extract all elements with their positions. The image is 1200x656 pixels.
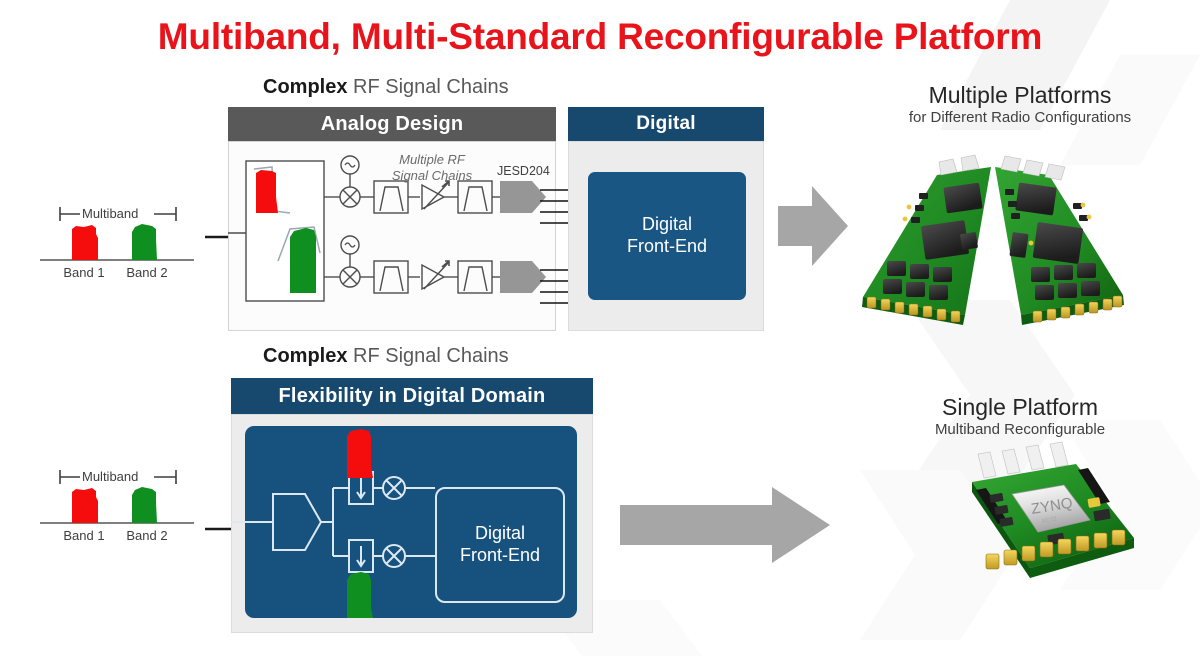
digital-front-end-box-bottom: Digital Front-End [435, 487, 565, 603]
multiple-platforms-subheading: for Different Radio Configurations [810, 108, 1200, 128]
dfe-bottom-line1: Digital [475, 523, 525, 543]
jesd204-label: JESD204 [497, 164, 550, 178]
page-title: Multiband, Multi-Standard Reconfigurable… [0, 16, 1200, 58]
arrow-to-single-platform [620, 487, 832, 563]
dfe-top-line2: Front-End [627, 236, 707, 256]
spectrum-top-band2-label: Band 2 [116, 265, 178, 280]
single-platform-subheading: Multiband Reconfigurable [810, 420, 1200, 440]
analog-design-header: Analog Design [228, 107, 556, 141]
slide-canvas: Multiband, Multi-Standard Reconfigurable… [0, 0, 1200, 656]
spectrum-top-span-label: Multiband [82, 206, 138, 221]
top-chain-caption: Complex RF Signal Chains [263, 76, 509, 99]
dfe-top-line1: Digital [642, 214, 692, 234]
spectrum-top: Multiband Band 1 Band 2 [26, 185, 216, 290]
spectrum-bottom: Multiband Band 1 Band 2 [26, 448, 216, 553]
digital-header: Digital [568, 107, 764, 141]
spectrum-bottom-band2-label: Band 2 [116, 528, 178, 543]
spectrum-bottom-span-label: Multiband [82, 469, 138, 484]
spectrum-top-band1-label: Band 1 [54, 265, 114, 280]
band1-spectrum-digital [347, 429, 373, 478]
bottom-chain-caption-rest: RF Signal Chains [347, 345, 508, 367]
pcb-board-left [862, 155, 991, 325]
top-chain-caption-bold: Complex [263, 76, 347, 98]
multiple-rf-annotation: Multiple RF Signal Chains [378, 152, 486, 185]
dfe-bottom-line2: Front-End [460, 545, 540, 565]
single-platform-heading-group: Single Platform Multiband Reconfigurable [810, 394, 1200, 440]
multiple-platform-boards-image [845, 145, 1190, 360]
arrow-to-multiple-platforms [778, 186, 850, 266]
single-platform-heading: Single Platform [810, 394, 1200, 420]
pcb-board-single: ZYNQ XC7Z [972, 442, 1134, 578]
bottom-chain-caption: Complex RF Signal Chains [263, 345, 509, 368]
multiple-platforms-heading-group: Multiple Platforms for Different Radio C… [810, 82, 1200, 128]
band2-spectrum-digital [347, 572, 373, 618]
spectrum-bottom-band1-label: Band 1 [54, 528, 114, 543]
multiple-platforms-heading: Multiple Platforms [810, 82, 1200, 108]
pcb-board-right [995, 156, 1124, 325]
top-chain-caption-rest: RF Signal Chains [347, 76, 508, 98]
bottom-chain-caption-bold: Complex [263, 345, 347, 367]
flexibility-header: Flexibility in Digital Domain [231, 378, 593, 414]
digital-front-end-box-top: Digital Front-End [588, 172, 746, 300]
single-platform-board-image: ZYNQ XC7Z [938, 450, 1168, 625]
